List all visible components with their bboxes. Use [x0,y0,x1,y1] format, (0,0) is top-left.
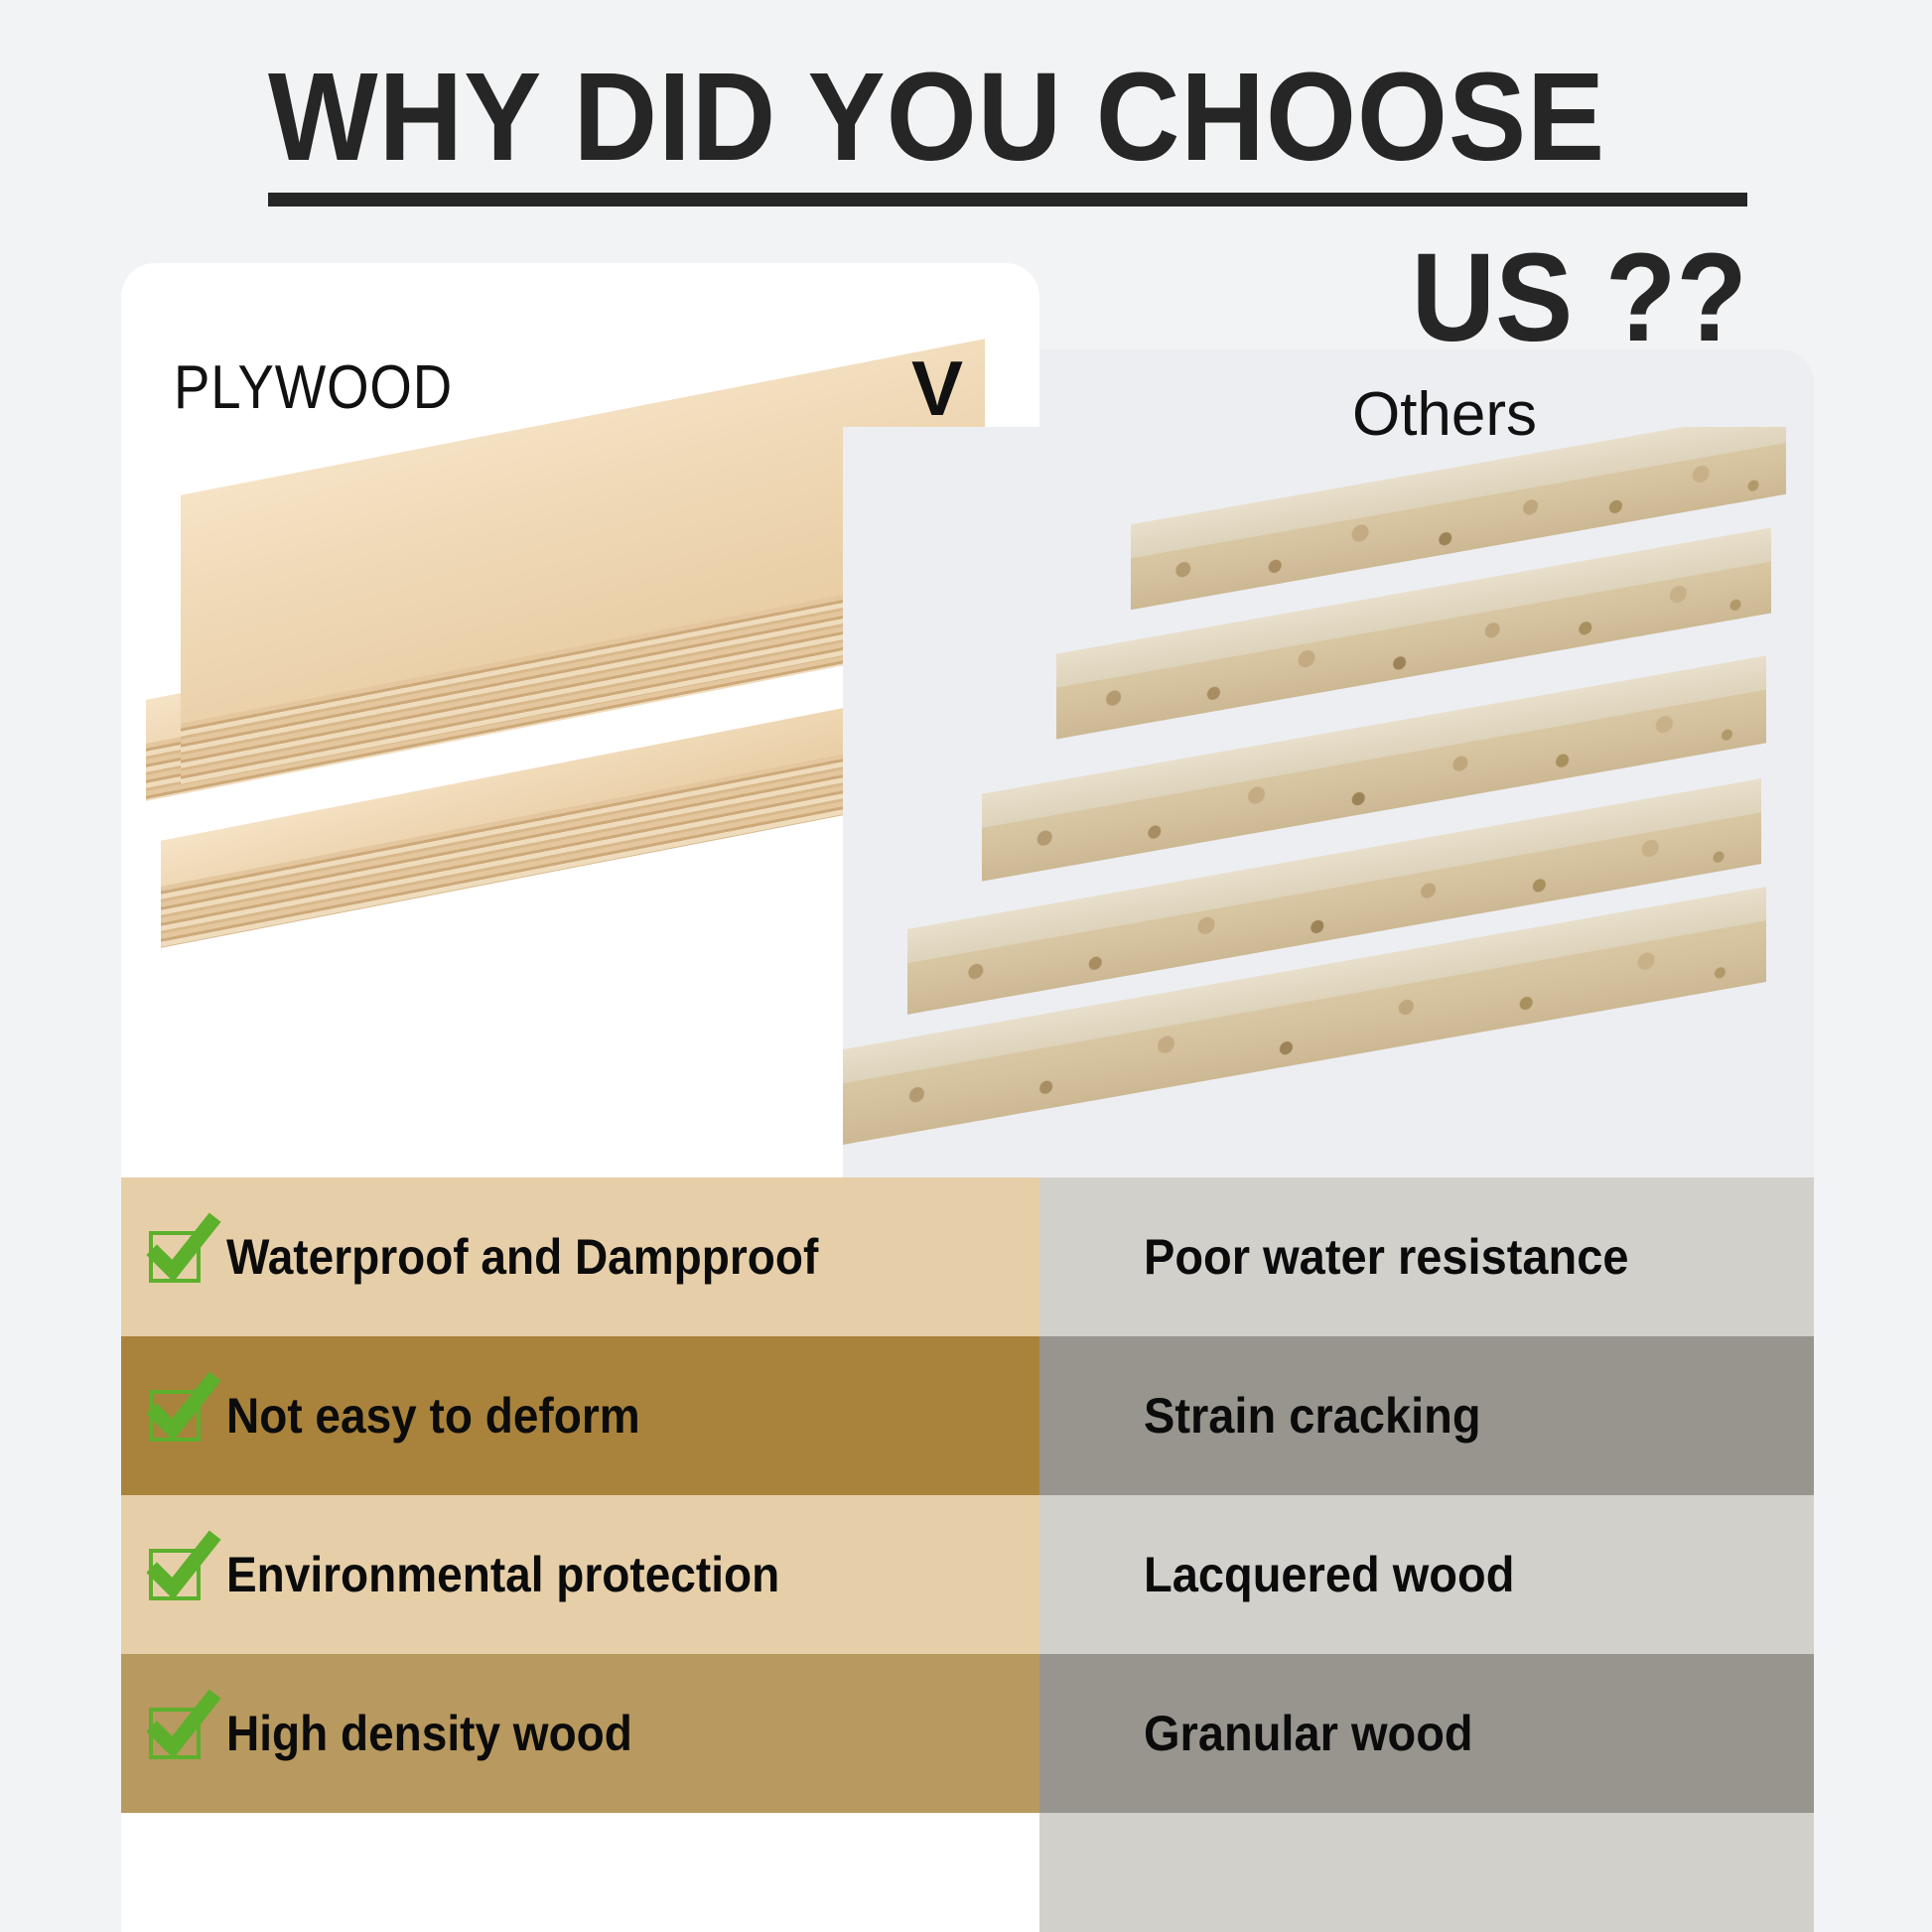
table-row: Environmental protection [121,1495,1039,1654]
particleboard-stack-photo [843,427,1814,1177]
green-check-icon [149,1708,201,1759]
plywood-feature-list: Waterproof and Dampproof Not easy to def… [121,1177,1039,1813]
table-row: Not easy to deform [121,1336,1039,1495]
drawback-label: Poor water resistance [1144,1228,1629,1286]
feature-label: Environmental protection [226,1546,779,1603]
table-row: Strain cracking [1039,1336,1814,1495]
checkmark-tail-icon: V [911,349,963,427]
feature-label: Not easy to deform [226,1387,640,1445]
feature-label: High density wood [226,1705,632,1762]
others-drawback-list: Poor water resistance Strain cracking La… [1039,1177,1814,1813]
table-row: Waterproof and Dampproof [121,1177,1039,1336]
others-panel-footer [1039,1813,1814,1932]
table-row: High density wood [121,1654,1039,1813]
table-row: Poor water resistance [1039,1177,1814,1336]
others-heading: Others [1082,379,1807,450]
table-row: Lacquered wood [1039,1495,1814,1654]
plywood-panel-footer [121,1813,1039,1932]
drawback-label: Granular wood [1144,1705,1473,1762]
table-row: Granular wood [1039,1654,1814,1813]
green-check-icon [149,1549,201,1600]
green-check-icon [149,1231,201,1283]
green-check-icon [149,1390,201,1442]
drawback-label: Lacquered wood [1144,1546,1514,1603]
comparison-section: PLYWOOD V Others Waterproof and Dampproo… [0,0,1932,1932]
plywood-heading: PLYWOOD [174,352,453,423]
feature-label: Waterproof and Dampproof [226,1228,818,1286]
drawback-label: Strain cracking [1144,1387,1481,1445]
